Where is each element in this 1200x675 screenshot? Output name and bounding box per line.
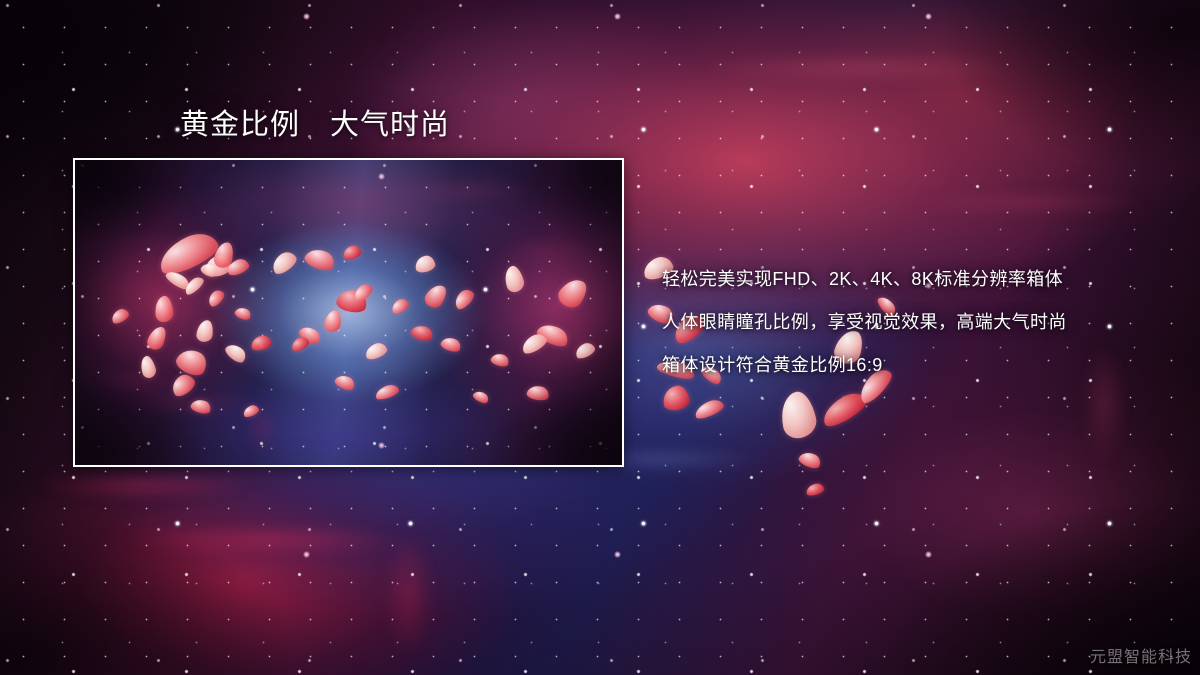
photo-frame <box>73 158 624 467</box>
page-title: 黄金比例 大气时尚 <box>180 101 450 143</box>
presentation-slide: 黄金比例 大气时尚 <box>0 0 1200 675</box>
photo-vignette <box>75 160 622 465</box>
body-line-2: 人体眼睛瞳孔比例，享受视觉效果，高端大气时尚 <box>662 301 1182 344</box>
photo-galaxy-petals <box>75 160 622 465</box>
body-copy: 轻松完美实现FHD、2K、4K、8K标准分辨率箱体 人体眼睛瞳孔比例，享受视觉效… <box>662 258 1182 387</box>
body-line-1: 轻松完美实现FHD、2K、4K、8K标准分辨率箱体 <box>662 258 1182 301</box>
watermark: 元盟智能科技 <box>1090 643 1192 667</box>
body-line-3: 箱体设计符合黄金比例16:9 <box>662 344 1182 387</box>
